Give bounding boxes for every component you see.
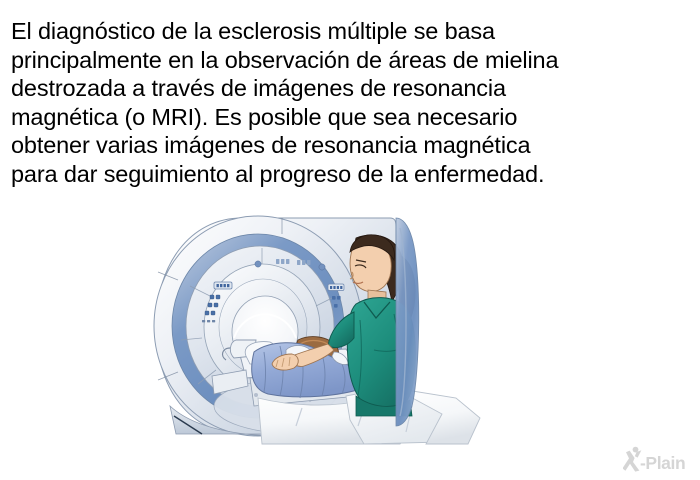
page-root: El diagnóstico de la esclerosis múltiple… <box>0 0 700 480</box>
x-plain-logo: -Plain <box>623 446 695 476</box>
body-paragraph: El diagnóstico de la esclerosis múltiple… <box>11 17 671 189</box>
mri-scanner-illustration <box>150 210 510 445</box>
x-plain-figure-mark <box>623 447 641 472</box>
x-plain-wordmark: -Plain <box>640 453 685 473</box>
